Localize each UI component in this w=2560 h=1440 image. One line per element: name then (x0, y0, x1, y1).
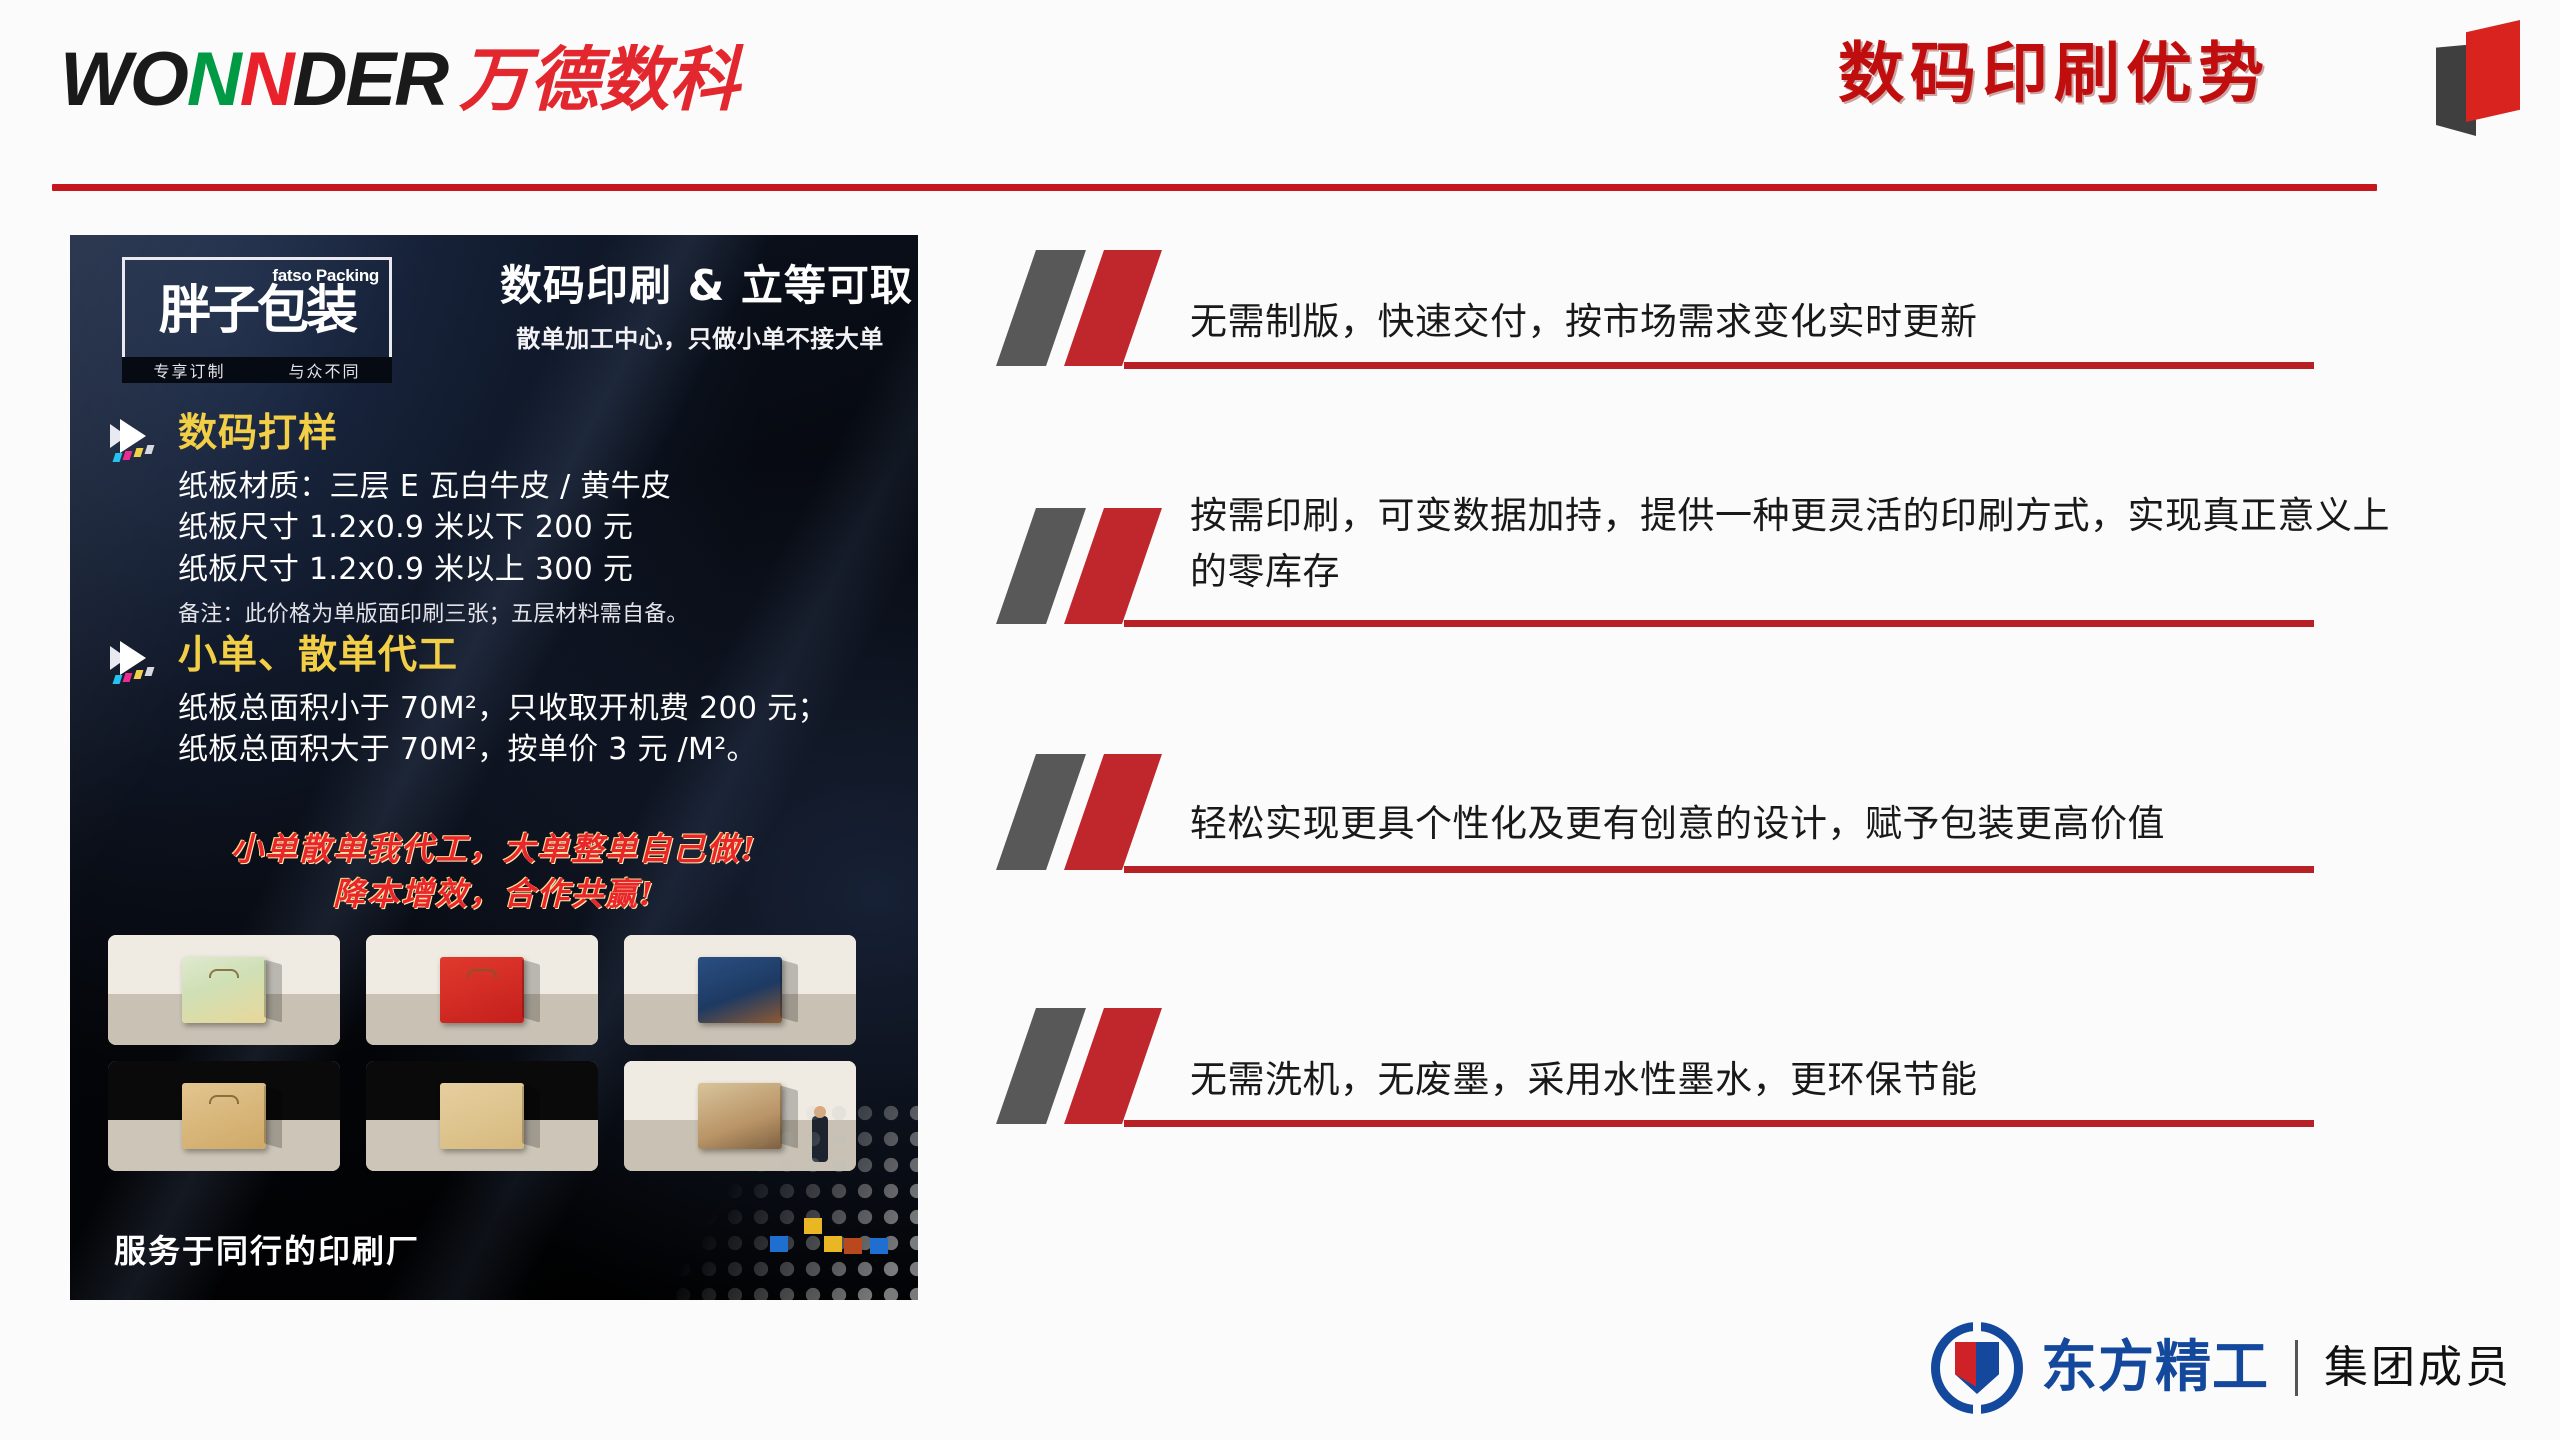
bullet-marker-icon (1000, 250, 1180, 366)
section-lines: 纸板材质：三层 E 瓦白牛皮 / 黄牛皮 纸板尺寸 1.2x0.9 米以下 20… (178, 466, 689, 628)
fatso-logo-en: fatso Packing (272, 266, 379, 286)
poster-photo (108, 935, 340, 1045)
footer-company-name: 东方精工 (2041, 1340, 2269, 1396)
slide-root: WONNDER 万德数科 数码印刷优势 胖子包装 fatso Packing 专… (0, 0, 2560, 1440)
section-lines: 纸板总面积小于 70M²，只收取开机费 200 元； 纸板总面积大于 70M²，… (178, 688, 828, 771)
poster-photo (366, 935, 598, 1045)
poster-photo (366, 1061, 598, 1171)
poster-subheadline: 散单加工中心，只做小单不接大单 (500, 319, 900, 354)
dot-blue-2 (870, 1238, 888, 1254)
box-handle (209, 969, 239, 978)
poster-slogan-line1: 小单散单我代工，大单整单自己做! (70, 827, 918, 872)
fatso-logo-cn: 胖子包装 (159, 285, 355, 337)
brand-logo: WONNDER 万德数科 (60, 40, 739, 120)
box-handle (467, 969, 497, 978)
arrow-dot-magenta (123, 673, 133, 682)
advantage-text: 按需印刷，可变数据加持，提供一种更灵活的印刷方式，实现真正意义上的零库存 (1190, 482, 2400, 600)
corner-shape-red (2466, 20, 2520, 122)
advantage-text: 无需制版，快速交付，按市场需求变化实时更新 (1190, 250, 2400, 350)
halftone-dots-decoration (618, 1100, 918, 1300)
dot-yellow-2 (824, 1236, 842, 1252)
arrow-dot-yellow (134, 448, 144, 457)
fatso-taglines: 专享订制 与众不同 (122, 357, 392, 383)
page-title: 数码印刷优势 (1838, 38, 2270, 111)
brand-chinese-name: 万德数科 (459, 45, 739, 115)
bullet-marker-icon (1000, 754, 1180, 870)
advantage-item-2[interactable]: 按需印刷，可变数据加持，提供一种更灵活的印刷方式，实现真正意义上的零库存 (1000, 482, 2400, 762)
section-title: 小单、散单代工 (178, 635, 828, 678)
dot-blue (770, 1236, 788, 1252)
fatso-logo-box: 胖子包装 fatso Packing (122, 257, 392, 365)
footer-group-logo: 东方精工 集团成员 (1931, 1320, 2512, 1416)
fatso-tagline-left: 专享订制 (153, 358, 225, 382)
poster-top-band: 胖子包装 fatso Packing 专享订制 与众不同 数码印刷 & 立等可取… (70, 235, 918, 385)
photo-box-honey (182, 957, 266, 1023)
bullet-marker-icon (1000, 508, 1180, 624)
arrow-dot-cyan (113, 453, 123, 462)
slide-header: WONNDER 万德数科 数码印刷优势 (0, 0, 2560, 200)
photo-box-kraft (182, 1083, 266, 1149)
footer-divider (2295, 1340, 2298, 1396)
footer-member-label: 集团成员 (2324, 1346, 2512, 1390)
advantage-underline (1124, 1120, 2314, 1127)
advantage-text: 轻松实现更具个性化及更有创意的设计，赋予包装更高价值 (1190, 762, 2400, 852)
header-divider (52, 184, 2377, 191)
advantages-list: 无需制版，快速交付，按市场需求变化实时更新 按需印刷，可变数据加持，提供一种更灵… (1000, 250, 2400, 1202)
corner-decoration-icon (2436, 6, 2532, 146)
emblem-notch-top (1973, 1320, 1981, 1336)
photo-box-beef-pie (698, 957, 782, 1023)
advantage-text: 无需洗机，无废墨，采用水性墨水，更环保节能 (1190, 1002, 2400, 1108)
advantage-underline (1124, 866, 2314, 873)
advantage-item-3[interactable]: 轻松实现更具个性化及更有创意的设计，赋予包装更高价值 (1000, 762, 2400, 1002)
poster-image-panel: 胖子包装 fatso Packing 专享订制 与众不同 数码印刷 & 立等可取… (70, 235, 918, 1300)
brand-wordmark-n-red: N (240, 42, 293, 118)
brand-wordmark: WONNDER (60, 42, 447, 118)
arrow-dot-cyan (113, 675, 123, 684)
advantage-item-1[interactable]: 无需制版，快速交付，按市场需求变化实时更新 (1000, 250, 2400, 482)
poster-slogan: 小单散单我代工，大单整单自己做! 降本增效，合作共赢! (70, 827, 918, 918)
section-line: 纸板总面积小于 70M²，只收取开机费 200 元； (178, 688, 828, 729)
brand-wordmark-n-green: N (187, 42, 240, 118)
section-line: 纸板尺寸 1.2x0.9 米以上 300 元 (178, 549, 689, 590)
dongfang-emblem-icon (1931, 1322, 2023, 1414)
advantage-underline (1124, 620, 2314, 627)
section-note: 备注：此价格为单版面印刷三张；五层材料需自备。 (178, 596, 689, 628)
arrow-dot-white (145, 445, 155, 454)
arrow-dot-magenta (123, 451, 133, 460)
poster-section-small-order: 小单、散单代工 纸板总面积小于 70M²，只收取开机费 200 元； 纸板总面积… (178, 635, 828, 771)
dot-yellow (804, 1218, 822, 1234)
arrow-dot-white (145, 667, 155, 676)
section-line: 纸板尺寸 1.2x0.9 米以下 200 元 (178, 507, 689, 548)
poster-photo (624, 935, 856, 1045)
advantage-item-4[interactable]: 无需洗机，无废墨，采用水性墨水，更环保节能 (1000, 1002, 2400, 1202)
dot-brown (844, 1238, 862, 1254)
photo-box-red-gift (440, 957, 524, 1023)
bullet-marker-icon (1000, 1008, 1180, 1124)
advantage-underline (1124, 362, 2314, 369)
poster-slogan-line2: 降本增效，合作共赢! (70, 872, 918, 917)
arrow-chevron-icon (110, 417, 170, 463)
poster-photo (108, 1061, 340, 1171)
poster-headline-block: 数码印刷 & 立等可取 散单加工中心，只做小单不接大单 (500, 263, 900, 354)
brand-wordmark-wo: WO (60, 42, 187, 118)
brand-wordmark-der: DER (293, 42, 447, 118)
arrow-dot-yellow (134, 670, 144, 679)
photo-box-classic-set (440, 1083, 524, 1149)
fatso-tagline-right: 与众不同 (288, 358, 360, 382)
poster-headline: 数码印刷 & 立等可取 (500, 263, 900, 309)
arrow-chevron-icon (110, 639, 170, 685)
emblem-notch-bottom (1973, 1400, 1981, 1416)
box-handle (209, 1095, 239, 1104)
poster-caption: 服务于同行的印刷厂 (114, 1226, 420, 1272)
section-title: 数码打样 (178, 413, 689, 456)
section-line: 纸板材质：三层 E 瓦白牛皮 / 黄牛皮 (178, 466, 689, 507)
poster-section-digital-proof: 数码打样 纸板材质：三层 E 瓦白牛皮 / 黄牛皮 纸板尺寸 1.2x0.9 米… (178, 413, 689, 628)
section-line: 纸板总面积大于 70M²，按单价 3 元 /M²。 (178, 729, 828, 770)
